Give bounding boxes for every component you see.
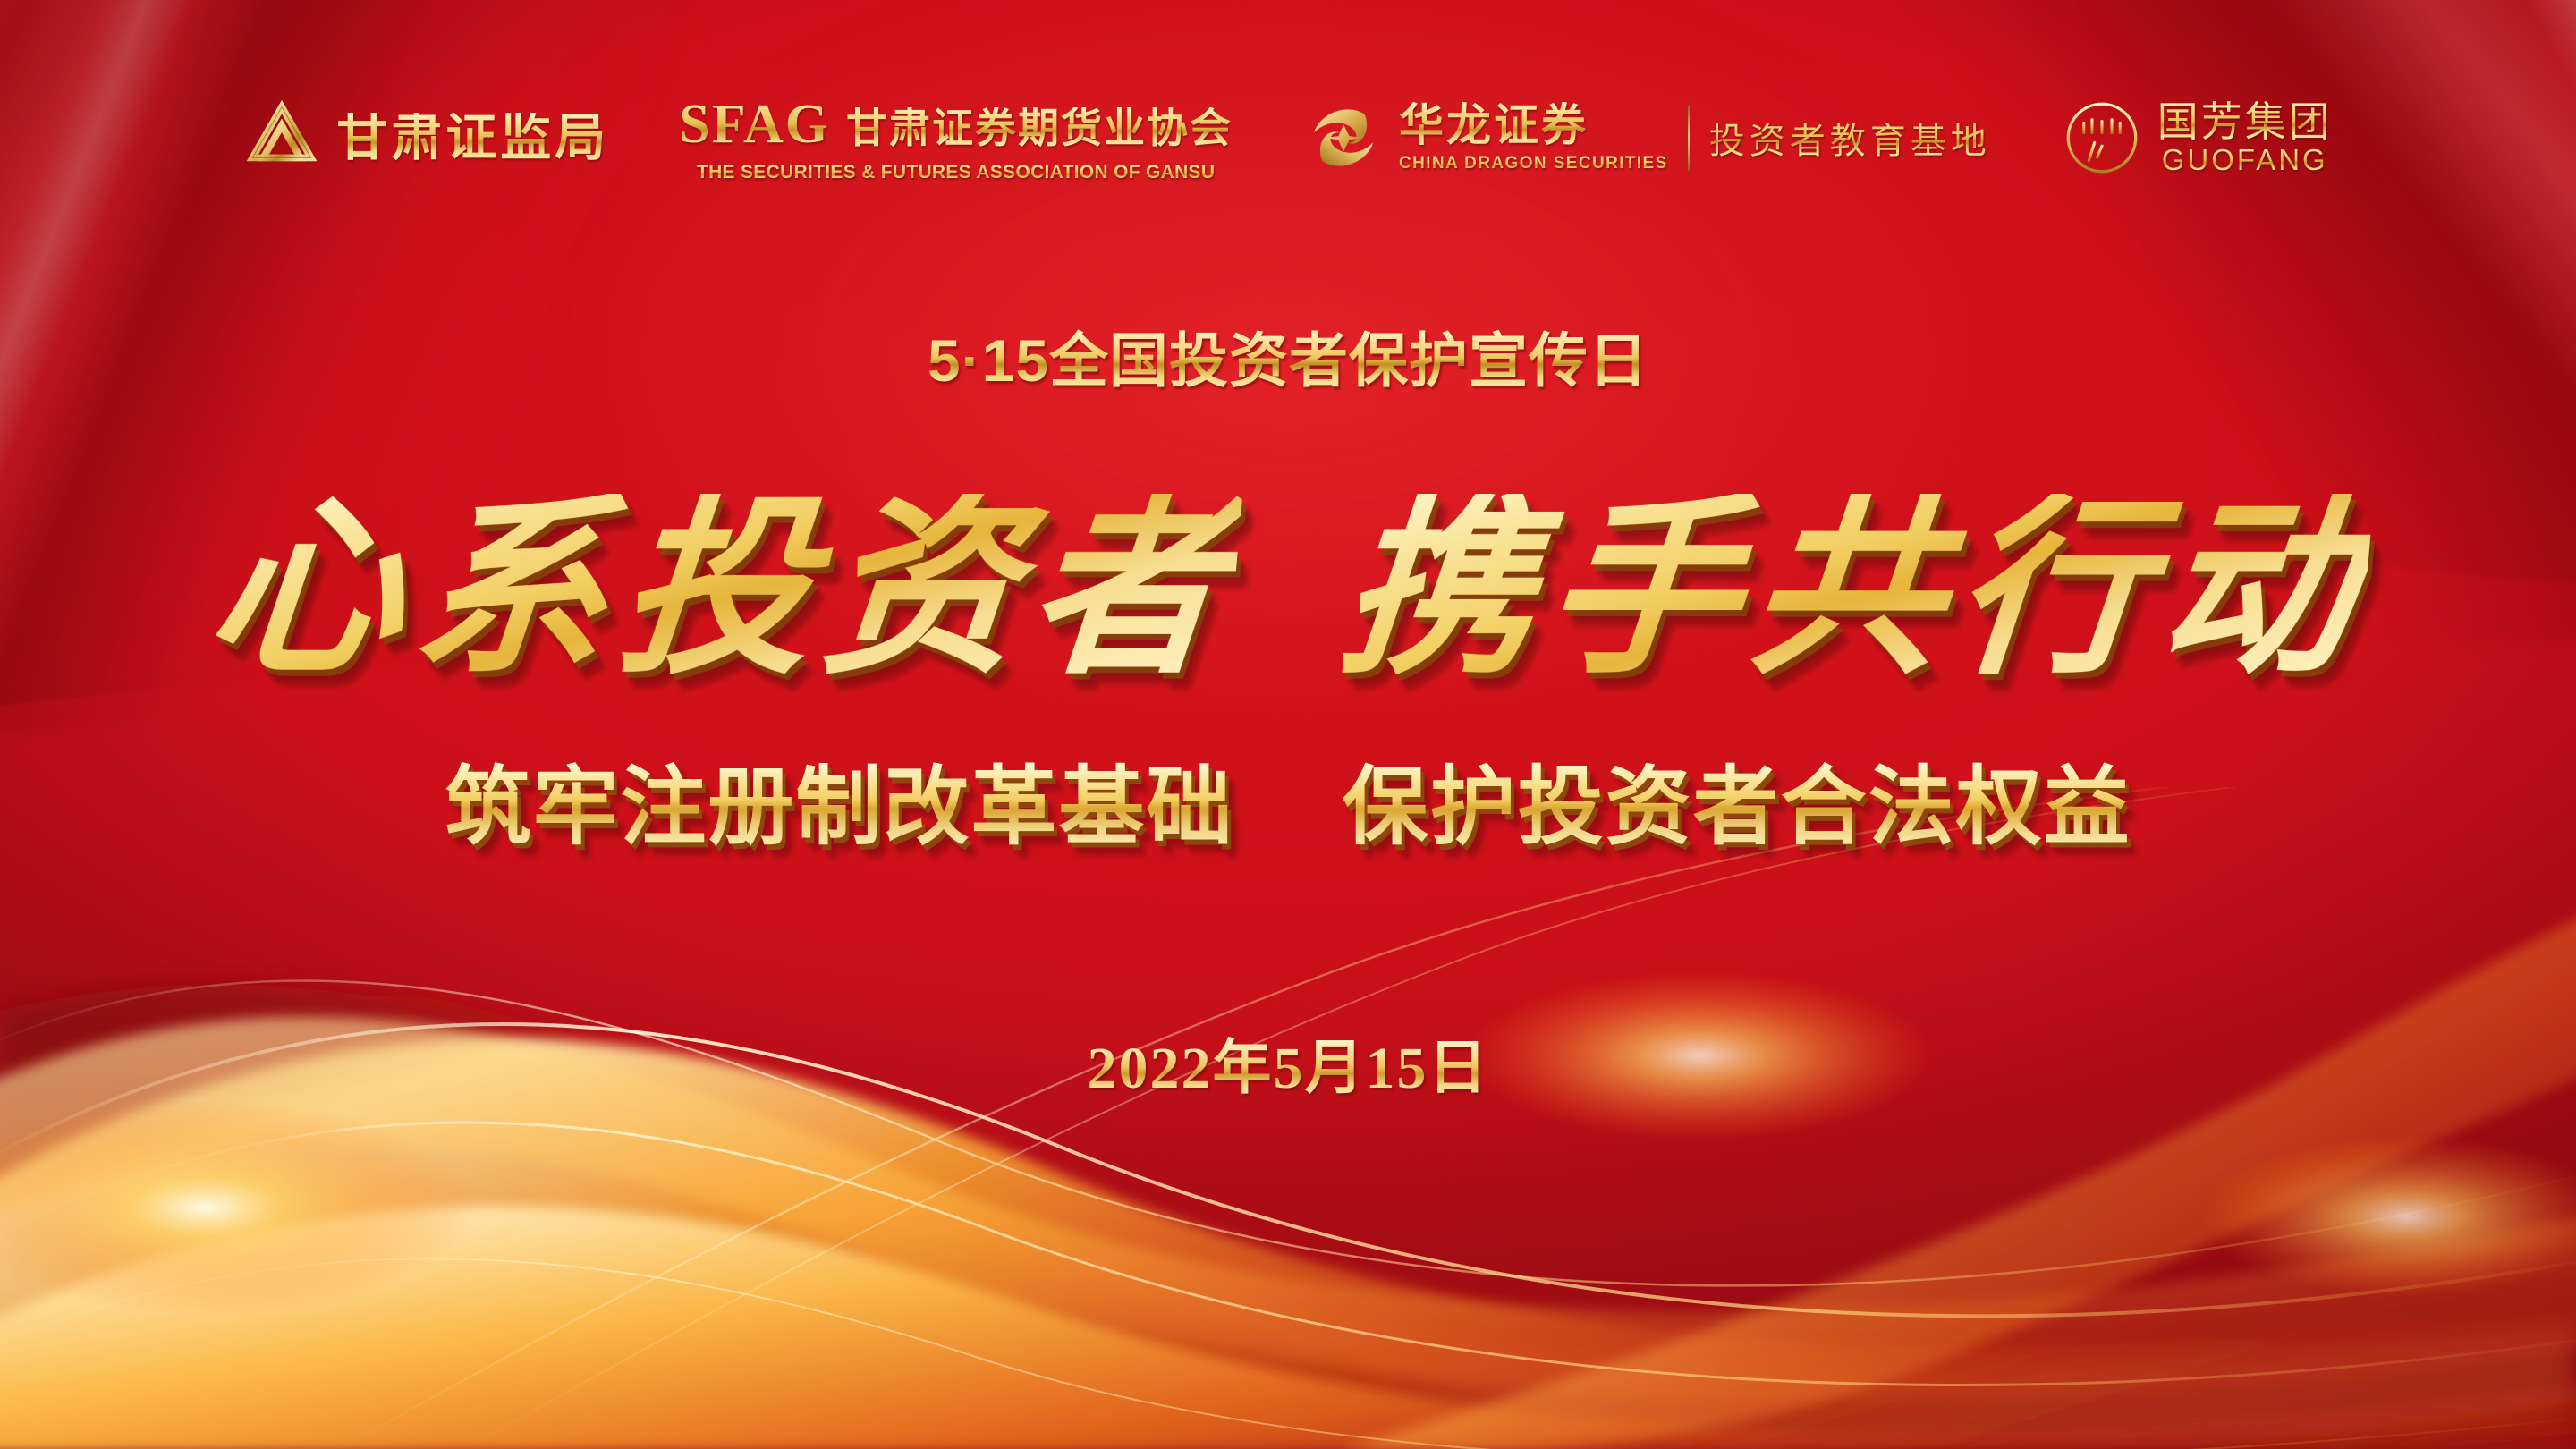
main-title-part-2: 携手共行动 — [1334, 494, 2375, 686]
logo-sfag-abbr: SFAG — [679, 93, 830, 157]
slogan-left: 筑牢注册制改革基础 — [445, 759, 1233, 855]
main-title: 心系投资者 携手共行动 — [0, 442, 2576, 737]
logo-sfag[interactable]: SFAG 甘肃证券期货业协会 THE SECURITIES & FUTURES … — [679, 93, 1233, 183]
logo-china-dragon[interactable]: 华龙证券 CHINA DRAGON SECURITIES 投资者教育基地 — [1302, 97, 1991, 179]
slogan-right: 保护投资者合法权益 — [1343, 759, 2131, 855]
event-date: 2022年5月15日 — [0, 1039, 2576, 1098]
logo-guofang-label-en: GUOFANG — [2162, 144, 2328, 176]
logo-gansu-csrc[interactable]: 甘肃证监局 — [243, 99, 609, 176]
event-eyebrow: 5·15全国投资者保护宣传日 — [0, 331, 2576, 390]
logo-guofang-label-cn: 国芳集团 — [2157, 99, 2333, 145]
dragon-circle-icon — [1302, 97, 1385, 179]
guofang-deer-circle-icon — [2061, 97, 2143, 179]
banner-stage: 甘肃证监局 SFAG 甘肃证券期货业协会 THE SECURITIES & FU… — [0, 0, 2576, 1449]
slogan-line: 筑牢注册制改革基础 保护投资者合法权益 — [0, 765, 2576, 851]
logo-china-dragon-label-cn: 华龙证券 — [1399, 102, 1668, 149]
ribbon-svg — [0, 787, 2576, 1449]
golden-ribbon-decor — [0, 787, 2576, 1449]
logo-guofang[interactable]: 国芳集团 GUOFANG — [2061, 97, 2333, 179]
main-title-part-1: 心系投资者 — [202, 494, 1243, 686]
logo-china-dragon-label-en: CHINA DRAGON SECURITIES — [1399, 154, 1668, 174]
logo-sfag-label-en: THE SECURITIES & FUTURES ASSOCIATION OF … — [697, 162, 1215, 183]
logo-gansu-csrc-label: 甘肃证监局 — [336, 113, 609, 164]
sponsor-logo-bar: 甘肃证监局 SFAG 甘肃证券期货业协会 THE SECURITIES & FU… — [0, 82, 2576, 193]
event-eyebrow-text: 5·15全国投资者保护宣传日 — [928, 327, 1648, 394]
event-date-text: 2022年5月15日 — [1088, 1036, 1489, 1101]
triangle-knot-icon — [243, 99, 320, 176]
logo-investor-education-base-label: 投资者教育基地 — [1709, 112, 1991, 164]
logo-divider — [1688, 105, 1690, 171]
logo-sfag-label-cn: 甘肃证券期货业协会 — [846, 107, 1233, 148]
